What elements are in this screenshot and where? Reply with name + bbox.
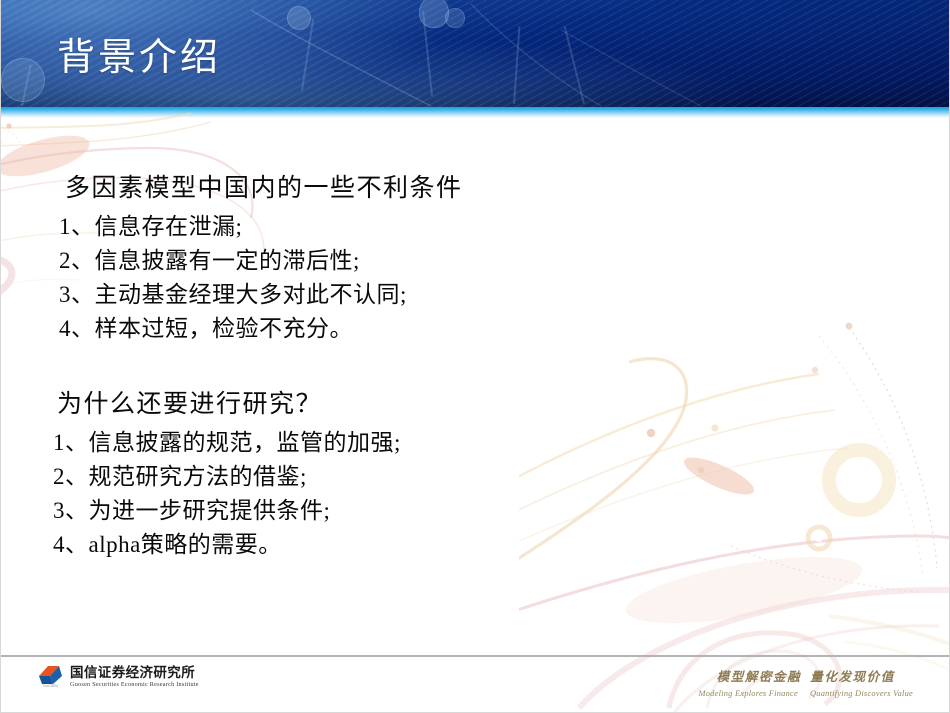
slide-content: 多因素模型中国内的一些不利条件 1、信息存在泄漏; 2、信息披露有一定的滞后性;… xyxy=(1,118,950,655)
list-item: 3、主动基金经理大多对此不认同; xyxy=(59,278,463,312)
tagline-en-left: Modeling Explores Finance xyxy=(699,689,798,698)
block-heading: 多因素模型中国内的一些不利条件 xyxy=(65,170,463,208)
footer-tagline: 模型解密金融量化发现价值 Modeling Explores FinanceQu… xyxy=(699,666,913,698)
tagline-cn-left: 模型解密金融 xyxy=(717,670,802,684)
block-item-list: 1、信息存在泄漏; 2、信息披露有一定的滞后性; 3、主动基金经理大多对此不认同… xyxy=(59,210,463,346)
brand-logo: GUOSEN 国信证券经济研究所 Guosen Securities Econo… xyxy=(37,665,199,689)
logo-wordmark: GUOSEN xyxy=(38,684,63,688)
slide-footer: GUOSEN 国信证券经济研究所 Guosen Securities Econo… xyxy=(1,657,950,713)
header-motif-circle xyxy=(445,8,465,28)
tagline-en-right: Quantifying Discovers Value xyxy=(810,689,913,698)
header-motif-circle xyxy=(1,58,45,102)
block-heading: 为什么还要进行研究？ xyxy=(57,386,401,424)
guosen-logo-icon: GUOSEN xyxy=(37,665,64,689)
list-item: 2、规范研究方法的借鉴; xyxy=(53,460,401,494)
presentation-slide: 背景介绍 xyxy=(0,0,950,713)
list-item: 3、为进一步研究提供条件; xyxy=(53,494,401,528)
list-item: 1、信息存在泄漏; xyxy=(59,210,463,244)
block-item-list: 1、信息披露的规范，监管的加强; 2、规范研究方法的借鉴; 3、为进一步研究提供… xyxy=(53,426,401,562)
list-item: 4、alpha策略的需要。 xyxy=(53,528,401,562)
brand-name-cn: 国信证券经济研究所 xyxy=(70,666,199,680)
tagline-en: Modeling Explores FinanceQuantifying Dis… xyxy=(699,689,913,698)
slide-header-banner: 背景介绍 xyxy=(1,0,950,118)
text-block-disadvantages: 多因素模型中国内的一些不利条件 1、信息存在泄漏; 2、信息披露有一定的滞后性;… xyxy=(59,170,463,346)
list-item: 4、样本过短，检验不充分。 xyxy=(59,312,463,346)
brand-name-en: Guosen Securities Economic Research Inst… xyxy=(70,682,199,688)
text-block-motivations: 为什么还要进行研究？ 1、信息披露的规范，监管的加强; 2、规范研究方法的借鉴;… xyxy=(53,386,401,562)
header-motif-circle xyxy=(287,6,311,30)
tagline-cn: 模型解密金融量化发现价值 xyxy=(699,666,913,685)
list-item: 1、信息披露的规范，监管的加强; xyxy=(53,426,401,460)
list-item: 2、信息披露有一定的滞后性; xyxy=(59,244,463,278)
tagline-cn-right: 量化发现价值 xyxy=(810,670,895,684)
header-accent-divider xyxy=(1,107,950,118)
brand-text: 国信证券经济研究所 Guosen Securities Economic Res… xyxy=(70,666,199,689)
page-title: 背景介绍 xyxy=(57,26,221,81)
